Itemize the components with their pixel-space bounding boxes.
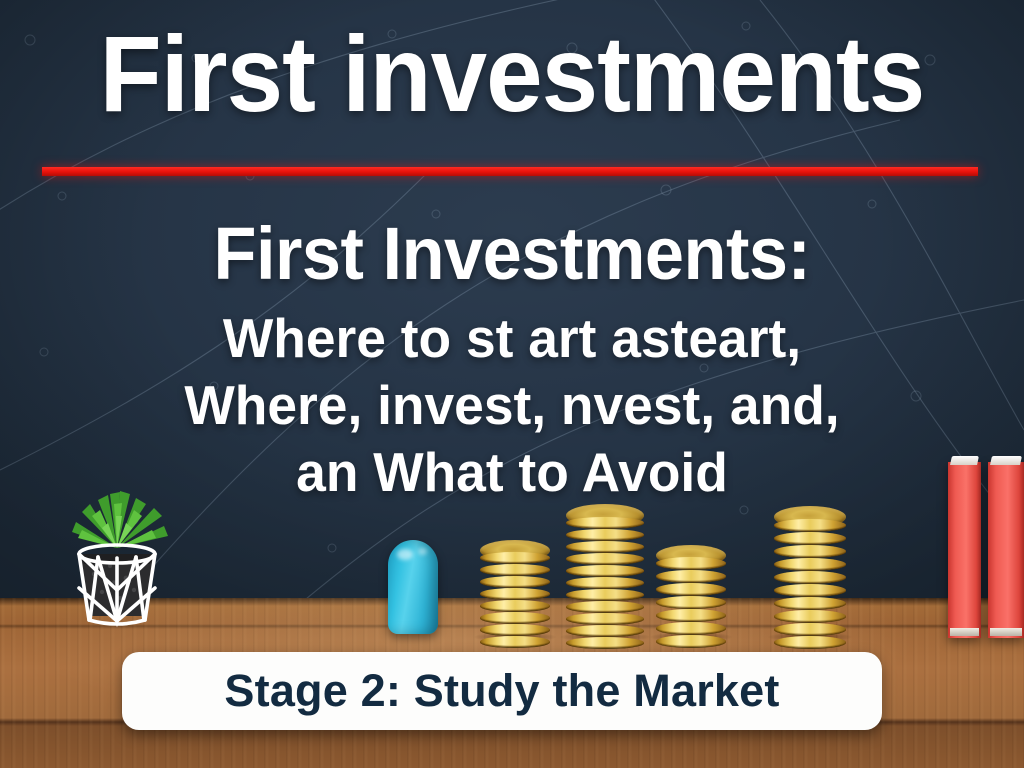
coin — [566, 565, 644, 577]
body-text-block: Where to st art asteart, Where, invest, … — [15, 305, 1008, 506]
coin — [566, 637, 644, 649]
stage-banner-label: Stage 2: Study the Market — [224, 665, 779, 717]
coin — [566, 589, 644, 601]
coin — [656, 622, 726, 635]
coin — [774, 597, 846, 610]
book-2 — [988, 462, 1024, 638]
book-page-edge-bottom — [950, 628, 979, 636]
coin — [480, 624, 550, 636]
slide-canvas: First investments First Investments: Whe… — [0, 0, 1024, 768]
plant-leaves — [72, 491, 168, 548]
coin — [566, 553, 644, 565]
subtitle-heading: First Investments: — [26, 212, 999, 296]
coin — [566, 601, 644, 613]
coin — [774, 571, 846, 584]
coin — [566, 577, 644, 589]
coin — [566, 517, 644, 529]
coin — [774, 610, 846, 623]
coin — [480, 588, 550, 600]
coin — [656, 609, 726, 622]
coin — [480, 576, 550, 588]
potted-plant — [58, 478, 176, 638]
coin-stack — [480, 540, 550, 636]
coin — [566, 529, 644, 541]
coin-stack — [656, 545, 726, 636]
coin — [566, 613, 644, 625]
coin — [774, 532, 846, 545]
coin-stack — [566, 504, 644, 636]
book-page-edge-top — [950, 456, 979, 465]
coin — [656, 596, 726, 609]
coin — [480, 600, 550, 612]
coin — [480, 552, 550, 564]
page-title: First investments — [31, 18, 994, 130]
coin-stack — [774, 506, 846, 636]
coin — [566, 541, 644, 553]
coin — [480, 564, 550, 576]
stage-banner: Stage 2: Study the Market — [122, 652, 882, 730]
body-line-1: Where to st art asteart, — [15, 305, 1008, 372]
coin — [774, 623, 846, 636]
coin — [656, 635, 726, 648]
body-line-2: Where, invest, nvest, and, — [15, 372, 1008, 439]
coin — [774, 584, 846, 597]
title-underline-rule — [42, 167, 978, 176]
coin — [656, 570, 726, 583]
coin — [656, 557, 726, 570]
coin — [480, 612, 550, 624]
book-page-edge-bottom — [990, 628, 1022, 636]
book-1 — [948, 462, 981, 638]
red-books — [948, 462, 1024, 638]
coin — [774, 558, 846, 571]
coin — [480, 636, 550, 648]
book-page-edge-top — [990, 456, 1022, 465]
coin — [656, 583, 726, 596]
coin — [774, 636, 846, 649]
coin — [774, 545, 846, 558]
cyan-capsule-object — [388, 540, 438, 634]
coin — [566, 625, 644, 637]
coin — [774, 519, 846, 532]
